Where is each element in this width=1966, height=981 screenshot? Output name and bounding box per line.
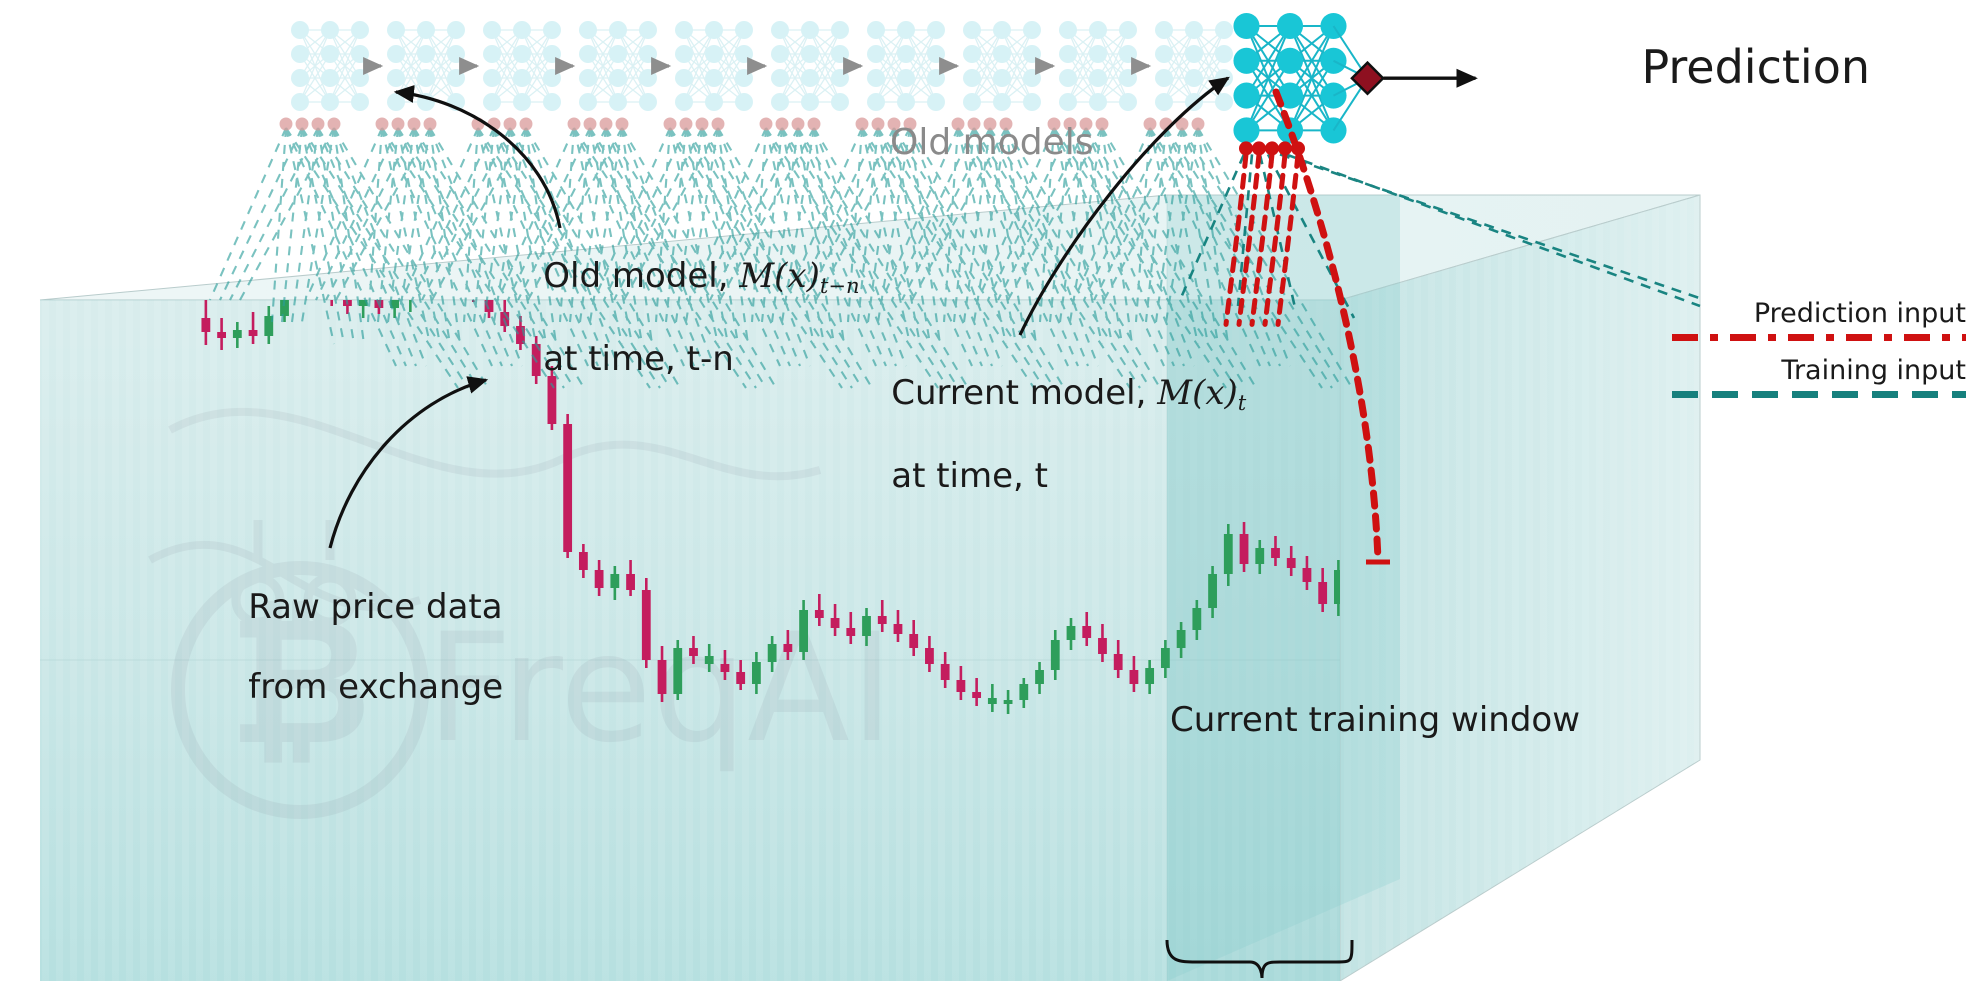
raw-price-line1: Raw price data: [248, 587, 502, 627]
raw-price-annotation: Raw price data from exchange: [205, 547, 503, 748]
old-models-label: Old models: [890, 122, 1093, 164]
raw-price-line2: from exchange: [248, 667, 503, 707]
current-model-annotation: Current model, M(x)t at time, t: [848, 333, 1246, 536]
training-window-brace: [1167, 940, 1352, 978]
figure-canvas: ₿ FreqAI: [0, 0, 1966, 981]
old-model-line2: at time, t-n: [543, 339, 734, 379]
legend-item-training-input: Training input: [1672, 355, 1966, 398]
current-model-line1: Current model, M(x)t: [891, 373, 1246, 413]
legend-label-prediction-input: Prediction input: [1672, 298, 1966, 329]
current-model-argument: (x): [1192, 373, 1238, 413]
legend: Prediction input Training input: [1672, 298, 1966, 412]
prediction-label: Prediction: [1641, 40, 1870, 94]
legend-label-training-input: Training input: [1672, 355, 1966, 386]
legend-swatch-prediction-input: [1672, 334, 1966, 341]
current-model-subscript: t: [1238, 390, 1246, 415]
old-model-line1: Old model, M(x)t−n: [543, 256, 859, 296]
old-model-subscript: t−n: [820, 273, 860, 298]
current-model-line2: at time, t: [891, 456, 1048, 496]
old-model-arrow: [396, 92, 560, 228]
current-model-symbol: M: [1157, 373, 1192, 413]
training-window-label: Current training window: [1170, 700, 1580, 740]
current-model-arrow: [1020, 78, 1228, 335]
old-model-annotation: Old model, M(x)t−n at time, t-n: [500, 216, 860, 419]
legend-item-prediction-input: Prediction input: [1672, 298, 1966, 341]
old-model-argument: (x): [774, 256, 820, 296]
old-model-symbol: M: [739, 256, 774, 296]
legend-swatch-training-input: [1672, 391, 1966, 398]
raw-price-arrow: [330, 380, 486, 548]
